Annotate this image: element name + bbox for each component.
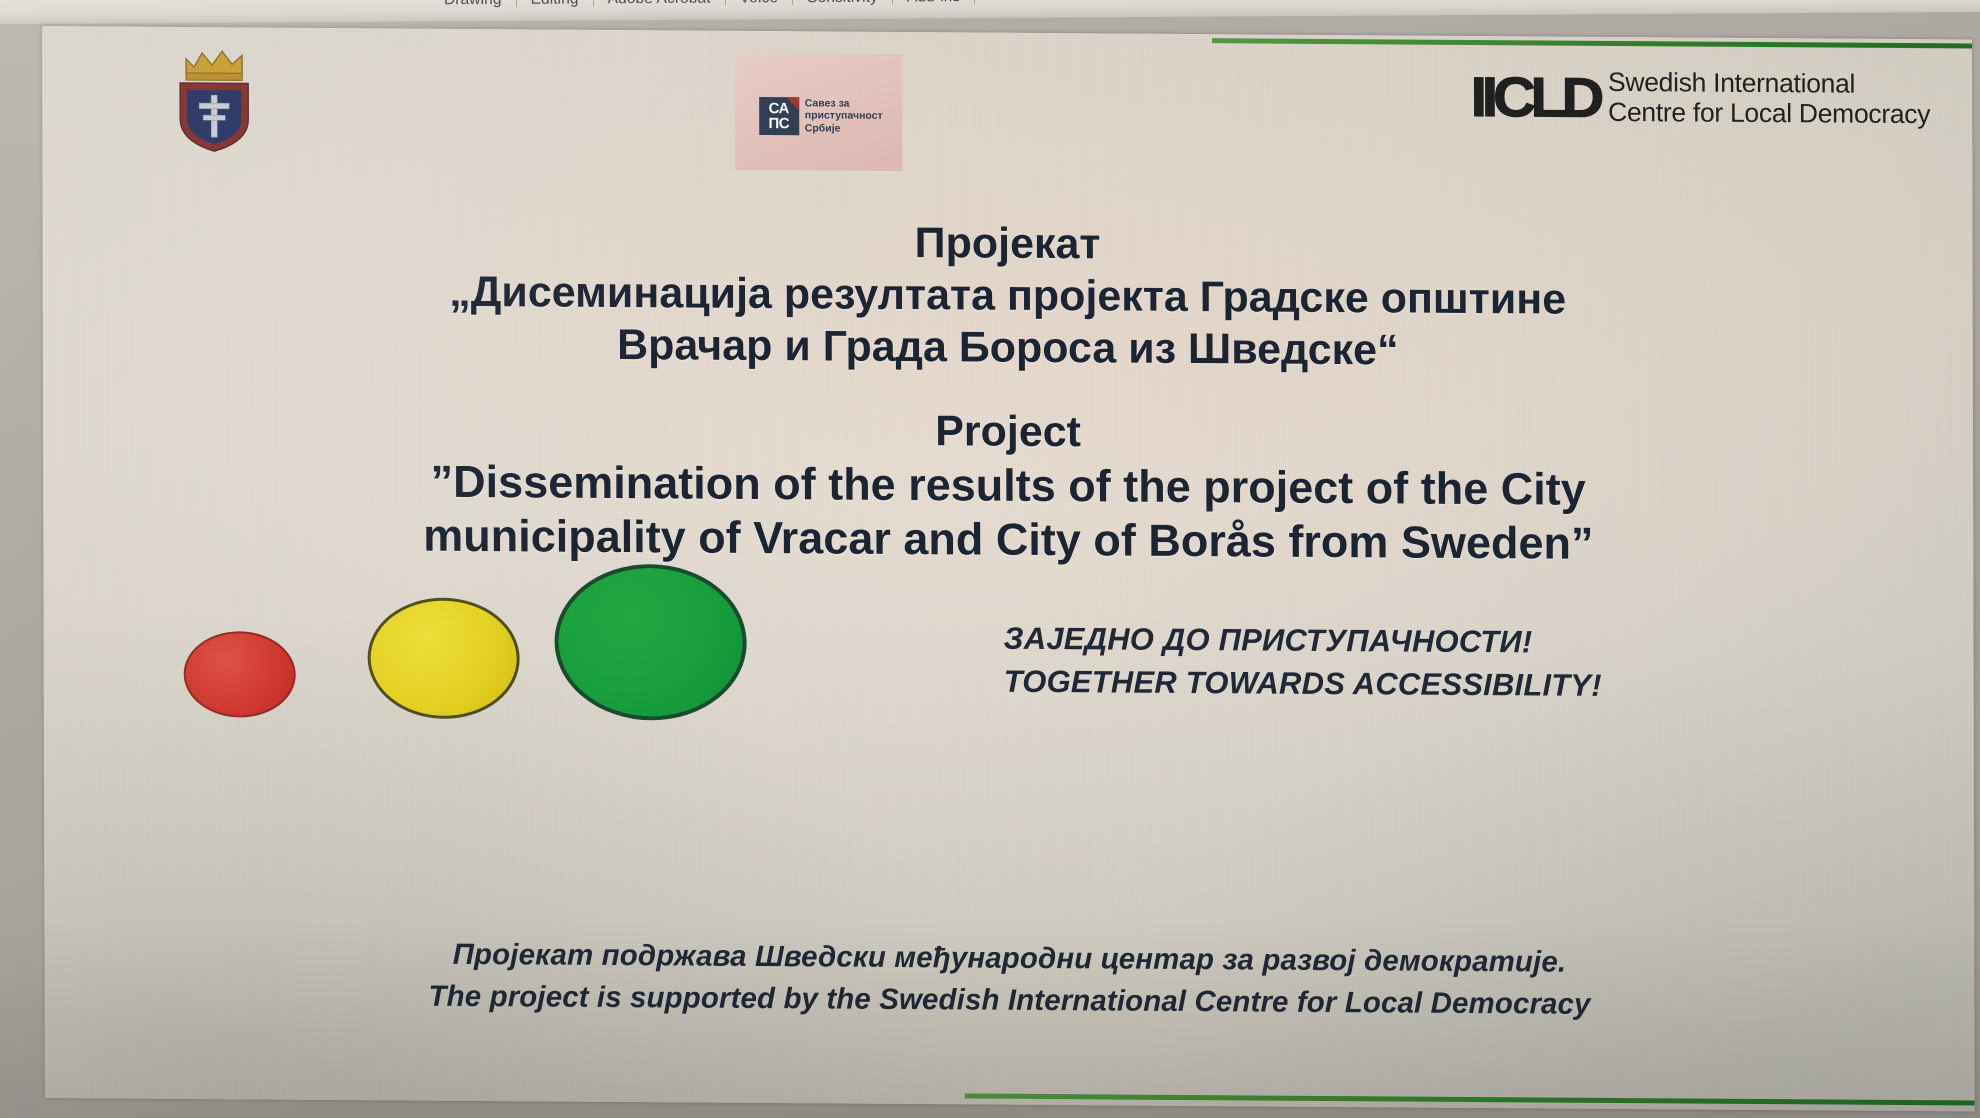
yellow-light-icon	[367, 597, 519, 719]
title-english: Project ”Dissemination of the results of…	[43, 400, 1973, 575]
sips-monogram-icon: СА ПС	[759, 97, 799, 135]
traffic-light-group	[183, 557, 903, 722]
icld-mark-icon: IICLD	[1470, 64, 1599, 130]
slogan-english: TOGETHER TOWARDS ACCESSIBILITY!	[1004, 660, 1854, 709]
ribbon-tab-adobe-acrobat[interactable]: Adobe Acrobat	[594, 0, 725, 8]
title-serbian: Пројекат „Дисеминација резултата пројект…	[42, 212, 1972, 381]
ribbon-separator	[974, 0, 975, 4]
footer-credit: Пројекат подржава Шведски међународни це…	[44, 931, 1974, 1028]
sips-text-line1: Савез за	[805, 98, 883, 111]
icld-text-line2: Centre for Local Democracy	[1608, 97, 1930, 128]
logo-row: СА ПС Савез за приступачност Србије IICL…	[42, 26, 1972, 199]
sips-wordmark: Савез за приступачност Србије	[805, 98, 883, 135]
ribbon-tab-add-ins[interactable]: Add-ins	[893, 0, 974, 7]
ribbon-tab-voice[interactable]: Voice	[726, 0, 792, 8]
sips-monogram-line2: ПС	[768, 116, 789, 131]
slogan: ЗАЈЕДНО ДО ПРИСТУПАЧНОСТИ! TOGETHER TOWA…	[1004, 618, 1854, 709]
green-light-icon	[554, 564, 746, 721]
icld-text-line1: Swedish International	[1608, 68, 1930, 99]
sips-text-line2: приступачност	[805, 110, 883, 123]
icld-logo: IICLD Swedish International Centre for L…	[1474, 64, 1930, 132]
sips-logo: СА ПС Савез за приступачност Србије	[735, 53, 902, 171]
slogan-serbian: ЗАЈЕДНО ДО ПРИСТУПАЧНОСТИ!	[1004, 618, 1854, 667]
sips-monogram-line1: СА	[769, 101, 789, 116]
vracar-coat-of-arms-icon	[172, 45, 256, 154]
ribbon-tab-drawing[interactable]: Drawing	[430, 0, 516, 9]
icld-wordmark: Swedish International Centre for Local D…	[1608, 68, 1930, 129]
ribbon-tab-sensitivity[interactable]: Sensitivity	[793, 0, 892, 7]
sips-text-line3: Србије	[805, 122, 883, 135]
presentation-screen-photo: Drawing Editing Adobe Acrobat Voice Sens…	[0, 0, 1980, 1118]
red-light-icon	[184, 631, 296, 718]
accent-line-bottom	[965, 1093, 1975, 1105]
ribbon-tab-editing[interactable]: Editing	[517, 0, 593, 9]
ribbon-tab-group: Drawing Editing Adobe Acrobat Voice Sens…	[430, 0, 975, 9]
powerpoint-ribbon-strip: Drawing Editing Adobe Acrobat Voice Sens…	[0, 0, 1980, 24]
slide-canvas: СА ПС Савез за приступачност Србије IICL…	[42, 26, 1975, 1111]
slide-surface: СА ПС Савез за приступачност Србије IICL…	[42, 26, 1975, 1111]
